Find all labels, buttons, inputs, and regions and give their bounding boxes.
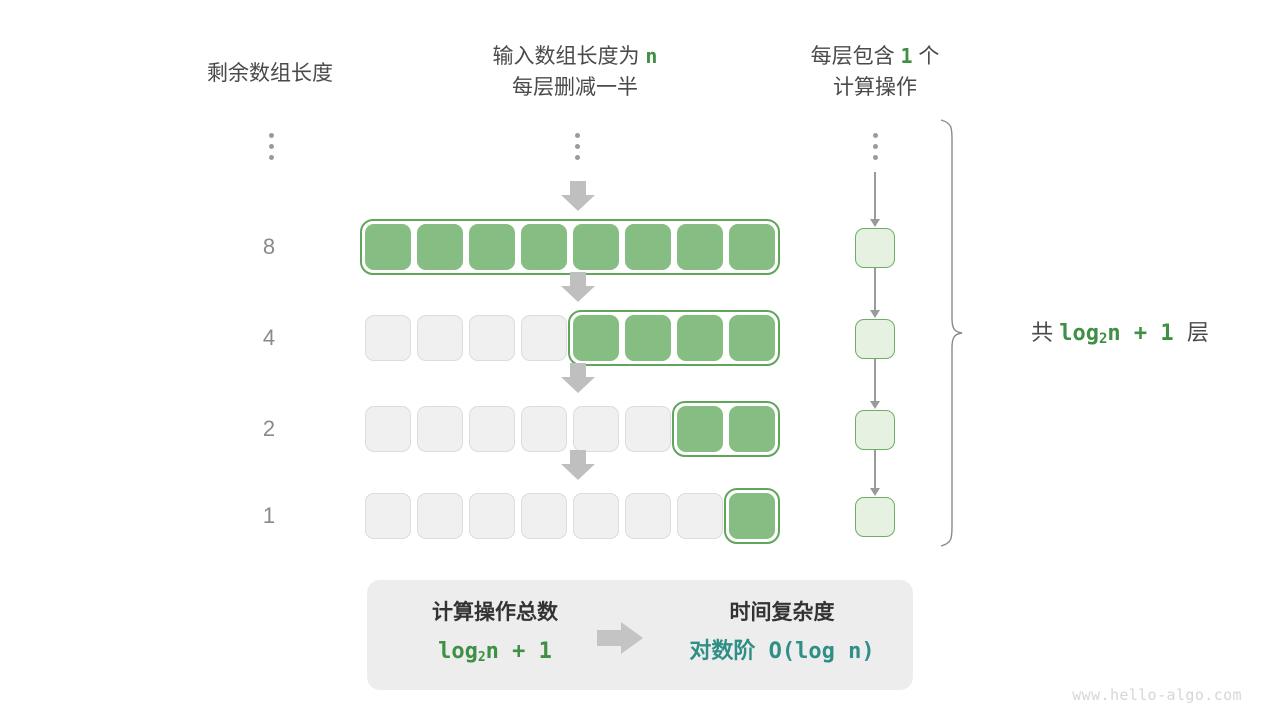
array-cell [469, 224, 515, 270]
header-right-count-1: 1 [900, 44, 912, 68]
array-cell [677, 406, 723, 452]
header-operations-per-level: 每层包含 1 个 计算操作 [760, 41, 990, 103]
row-label-8: 8 [249, 236, 289, 258]
brace-formula-rest: n + 1 [1107, 321, 1173, 346]
halving-arrow-icon [561, 272, 595, 302]
header-right-line1: 每层包含 1 个 [760, 41, 990, 72]
array-cell [729, 315, 775, 361]
array-cell [365, 406, 411, 452]
summary-right-value: 对数阶 O(log n) [667, 639, 897, 665]
array-cell [625, 493, 671, 539]
summary-left-value-rest: n + 1 [486, 639, 552, 664]
header-remaining-array-length: 剩余数组长度 [170, 58, 370, 89]
array-cell [521, 224, 567, 270]
operation-connector-arrowhead-icon [870, 219, 880, 227]
array-cell [521, 315, 567, 361]
operation-connector-line [874, 359, 876, 401]
header-mid-variable-n: n [645, 44, 657, 68]
row-label-2: 2 [249, 418, 289, 440]
array-cell [469, 406, 515, 452]
array-cell [469, 493, 515, 539]
operation-connector-line [874, 268, 876, 310]
header-input-array: 输入数组长度为 n 每层删减一半 [430, 41, 720, 103]
operation-box [855, 410, 895, 450]
ellipsis-operations [868, 133, 882, 160]
operation-box [855, 228, 895, 268]
header-right-line2: 计算操作 [760, 72, 990, 103]
summary-total-operations: 计算操作总数 log2n + 1 [385, 598, 605, 671]
array-cell [677, 224, 723, 270]
array-cell [729, 224, 775, 270]
brace-formula: log2n + 1 [1059, 321, 1187, 346]
array-cell [365, 315, 411, 361]
header-right-line1-pre: 每层包含 [811, 45, 895, 68]
array-cell [417, 406, 463, 452]
array-cell [573, 315, 619, 361]
halving-arrow-icon [561, 363, 595, 393]
array-cell [677, 493, 723, 539]
summary-right-title: 时间复杂度 [667, 598, 897, 628]
array-cell [729, 493, 775, 539]
operation-box [855, 497, 895, 537]
brace-caption-pre: 共 [1031, 320, 1053, 345]
summary-left-title: 计算操作总数 [385, 598, 605, 628]
ellipsis-array-rows [570, 133, 584, 160]
row-label-4: 4 [249, 327, 289, 349]
header-mid-line1: 输入数组长度为 n [430, 41, 720, 72]
halving-arrow-icon [561, 450, 595, 480]
watermark: www.hello-algo.com [1072, 686, 1242, 704]
brace-caption: 共 log2n + 1 层 [985, 315, 1255, 347]
operation-connector-line [874, 172, 876, 219]
summary-right-arrow-icon [597, 622, 643, 654]
array-cell [677, 315, 723, 361]
array-cell [729, 406, 775, 452]
array-cell [365, 493, 411, 539]
array-cell [573, 493, 619, 539]
array-cell [573, 406, 619, 452]
header-right-line1-post: 个 [918, 45, 939, 68]
header-mid-line1-text: 输入数组长度为 [493, 45, 640, 68]
array-cell [573, 224, 619, 270]
operation-connector-arrowhead-icon [870, 310, 880, 318]
brace-caption-post: 层 [1187, 320, 1209, 345]
operation-connector-arrowhead-icon [870, 401, 880, 409]
row-label-1: 1 [249, 505, 289, 527]
array-cell [417, 493, 463, 539]
array-cell [469, 315, 515, 361]
diagram-canvas: 剩余数组长度 输入数组长度为 n 每层删减一半 每层包含 1 个 计算操作 84… [0, 0, 1280, 720]
ellipsis-row-labels [264, 133, 278, 160]
array-cell [521, 406, 567, 452]
level-count-brace [938, 118, 964, 548]
array-cell [365, 224, 411, 270]
summary-time-complexity: 时间复杂度 对数阶 O(log n) [667, 598, 897, 665]
array-cell [521, 493, 567, 539]
header-left-text: 剩余数组长度 [207, 62, 333, 85]
halving-arrow-icon [561, 181, 595, 211]
array-cell [417, 224, 463, 270]
summary-left-value: log2n + 1 [385, 639, 605, 671]
summary-left-value-base: log [438, 639, 478, 664]
array-cell [625, 315, 671, 361]
operation-connector-line [874, 450, 876, 488]
array-cell [417, 315, 463, 361]
operation-connector-arrowhead-icon [870, 488, 880, 496]
array-cell [625, 224, 671, 270]
header-mid-line2: 每层删减一半 [430, 72, 720, 103]
brace-formula-base: log [1059, 321, 1099, 346]
operation-box [855, 319, 895, 359]
array-cell [625, 406, 671, 452]
summary-left-value-subscript: 2 [478, 650, 486, 665]
